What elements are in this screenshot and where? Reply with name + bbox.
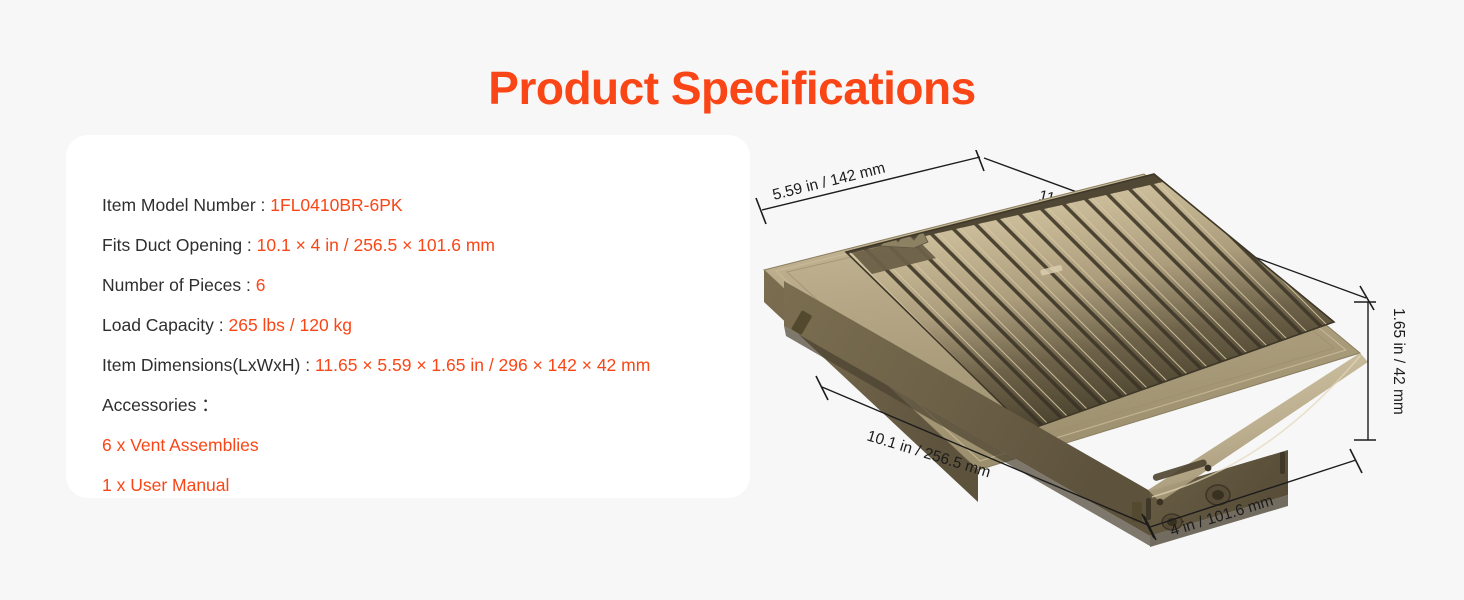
spec-separator: : bbox=[241, 275, 256, 295]
accessory-item-user-manual: 1 x User Manual bbox=[102, 465, 730, 505]
end-edge-notch-left bbox=[1146, 498, 1151, 520]
spec-label: Fits Duct Opening bbox=[102, 235, 242, 255]
dimension-label: 5.59 in / 142 mm bbox=[771, 159, 887, 203]
spec-value: 11.65 × 5.59 × 1.65 in / 296 × 142 × 42 … bbox=[315, 355, 650, 375]
dimension-height-right: 1.65 in / 42 mm bbox=[1354, 302, 1407, 440]
spec-value: 10.1 × 4 in / 256.5 × 101.6 mm bbox=[257, 235, 495, 255]
spec-value: 6 bbox=[256, 275, 266, 295]
spec-label: Load Capacity bbox=[102, 315, 214, 335]
spec-label: Number of Pieces bbox=[102, 275, 241, 295]
dimension-width-top-left: 5.59 in / 142 mm bbox=[756, 150, 984, 224]
spec-label: Item Model Number bbox=[102, 195, 256, 215]
spec-separator: : bbox=[256, 195, 271, 215]
spec-separator: : bbox=[242, 235, 257, 255]
spec-row-load-capacity: Load Capacity : 265 lbs / 120 kg bbox=[102, 305, 730, 345]
spec-row-number-of-pieces: Number of Pieces : 6 bbox=[102, 265, 730, 305]
spec-label: Accessories bbox=[102, 395, 196, 415]
dimension-label: 1.65 in / 42 mm bbox=[1390, 308, 1407, 415]
accessory-item-vent-assemblies: 6 x Vent Assemblies bbox=[102, 425, 730, 465]
spec-value: 265 lbs / 120 kg bbox=[228, 315, 352, 335]
product-image: 5.59 in / 142 mm 11.65 in / 296 mm bbox=[740, 150, 1464, 570]
end-edge-notch-right bbox=[1280, 452, 1285, 474]
spec-row-accessories: Accessories ： bbox=[102, 385, 730, 425]
spec-separator: : bbox=[300, 355, 315, 375]
spec-row-fits-duct-opening: Fits Duct Opening : 10.1 × 4 in / 256.5 … bbox=[102, 225, 730, 265]
screw-hole-upper bbox=[1205, 465, 1212, 472]
spec-label: Item Dimensions(LxWxH) bbox=[102, 355, 300, 375]
spec-separator: ： bbox=[196, 395, 218, 415]
page-title: Product Specifications bbox=[0, 62, 1464, 115]
spec-value: 1FL0410BR-6PK bbox=[270, 195, 402, 215]
product-specifications-page: Product Specifications Item Model Number… bbox=[0, 0, 1464, 600]
floor-register-vent bbox=[764, 174, 1370, 568]
spec-card: Item Model Number : 1FL0410BR-6PK Fits D… bbox=[66, 135, 750, 498]
screw-hole-lower bbox=[1157, 499, 1164, 506]
spec-list: Item Model Number : 1FL0410BR-6PK Fits D… bbox=[102, 185, 730, 505]
spec-row-item-dimensions: Item Dimensions(LxWxH) : 11.65 × 5.59 × … bbox=[102, 345, 730, 385]
spec-row-item-model-number: Item Model Number : 1FL0410BR-6PK bbox=[102, 185, 730, 225]
spec-separator: : bbox=[214, 315, 229, 335]
